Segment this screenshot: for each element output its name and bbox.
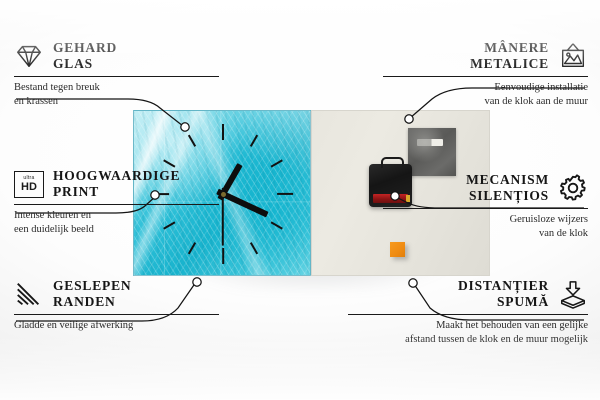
feature-title: GESLEPEN RANDEN	[53, 278, 131, 311]
feature-header: DISTANȚIER SPUMĂ	[348, 278, 588, 311]
feature-title-line1: MECANISM	[466, 172, 549, 188]
clock-tick	[271, 159, 283, 167]
feature-title-line1: DISTANȚIER	[458, 278, 549, 294]
second-hand	[222, 188, 224, 246]
feature-rule	[14, 314, 219, 315]
feature-subtitle: Maakt het behouden van een gelijke afsta…	[348, 319, 588, 347]
feature-subtitle-line1: Bestand tegen breuk	[14, 81, 219, 95]
feature-header: MÂNERE METALICE	[383, 40, 588, 73]
feature-subtitle: Eenvoudige installatie van de klok aan d…	[383, 81, 588, 109]
feature-gehard-glas: GEHARD GLAS Bestand tegen breuk en krass…	[14, 40, 219, 109]
foam-spacer	[390, 242, 405, 257]
feature-geslepen-randen: GESLEPEN RANDEN Gladde en veilige afwerk…	[14, 278, 219, 333]
feature-subtitle-line2: een duidelijk beeld	[14, 223, 219, 237]
feature-subtitle-line1: Intense kleuren en	[14, 209, 219, 223]
feature-subtitle-line1: Gladde en veilige afwerking	[14, 319, 219, 333]
feature-rule	[14, 204, 219, 205]
clock-tick	[222, 248, 224, 264]
feature-subtitle-line2: afstand tussen de klok en de muur mogeli…	[348, 333, 588, 347]
feature-subtitle: Bestand tegen breuk en krassen	[14, 81, 219, 109]
feature-subtitle: Intense kleuren en een duidelijk beeld	[14, 209, 219, 237]
feature-title-line2: METALICE	[470, 56, 549, 72]
clock-tick	[277, 193, 293, 195]
feature-mecanism-silentios: MECANISM SILENȚIOS Geruisloze wijzers va…	[383, 172, 588, 241]
feature-manere-metalice: MÂNERE METALICE Eenvoudige installatie v…	[383, 40, 588, 109]
ultra-hd-icon: ultra HD	[14, 171, 44, 198]
feature-subtitle-line2: en krassen	[14, 95, 219, 109]
clock-tick	[250, 134, 258, 146]
feature-title-line1: GEHARD	[53, 40, 117, 56]
clock-tick	[250, 242, 258, 254]
feature-title-line2: GLAS	[53, 56, 117, 72]
feature-rule	[383, 208, 588, 209]
feature-title-line2: PRINT	[53, 184, 180, 200]
clock-center-cap	[221, 192, 226, 197]
feature-rule	[383, 76, 588, 77]
picture-hanger-icon	[558, 41, 588, 71]
feature-header: GESLEPEN RANDEN	[14, 278, 219, 311]
feature-title-line2: RANDEN	[53, 294, 131, 310]
feature-title-line2: SILENȚIOS	[466, 188, 549, 204]
feature-title-line1: MÂNERE	[470, 40, 549, 56]
infographic-stage: GEHARD GLAS Bestand tegen breuk en krass…	[0, 0, 600, 400]
feature-title: HOOGWAARDIGE PRINT	[53, 168, 180, 201]
clock-tick	[188, 134, 196, 146]
feature-header: GEHARD GLAS	[14, 40, 219, 73]
feature-rule	[14, 76, 219, 77]
feature-hoogwaardige-print: ultra HD HOOGWAARDIGE PRINT Intense kleu…	[14, 168, 219, 237]
metal-hanger-plate	[408, 128, 456, 176]
clock-tick	[163, 159, 175, 167]
feature-title: MÂNERE METALICE	[470, 40, 549, 73]
feature-title: GEHARD GLAS	[53, 40, 117, 73]
diagonal-lines-icon	[14, 279, 44, 309]
feature-title: DISTANȚIER SPUMĂ	[458, 278, 549, 311]
feature-subtitle-line1: Geruisloze wijzers	[383, 213, 588, 227]
gear-icon	[558, 173, 588, 203]
feature-title-line1: HOOGWAARDIGE	[53, 168, 180, 184]
clock-tick	[271, 221, 283, 229]
feature-rule	[348, 314, 588, 315]
feature-title-line2: SPUMĂ	[458, 294, 549, 310]
feature-header: ultra HD HOOGWAARDIGE PRINT	[14, 168, 219, 201]
feature-title-line1: GESLEPEN	[53, 278, 131, 294]
feature-subtitle-line2: van de klok aan de muur	[383, 95, 588, 109]
feature-subtitle: Geruisloze wijzers van de klok	[383, 213, 588, 241]
spacer-arrow-icon	[558, 279, 588, 309]
feature-subtitle-line1: Eenvoudige installatie	[383, 81, 588, 95]
clock-tick	[188, 242, 196, 254]
feature-header: MECANISM SILENȚIOS	[383, 172, 588, 205]
clock-tick	[222, 124, 224, 140]
feature-title: MECANISM SILENȚIOS	[466, 172, 549, 205]
ultra-hd-icon-main: HD	[21, 182, 37, 193]
feature-distantier-spuma: DISTANȚIER SPUMĂ Maakt het behouden van …	[348, 278, 588, 347]
diamond-icon	[14, 41, 44, 71]
feature-subtitle: Gladde en veilige afwerking	[14, 319, 219, 333]
feature-subtitle-line2: van de klok	[383, 227, 588, 241]
feature-subtitle-line1: Maakt het behouden van een gelijke	[348, 319, 588, 333]
